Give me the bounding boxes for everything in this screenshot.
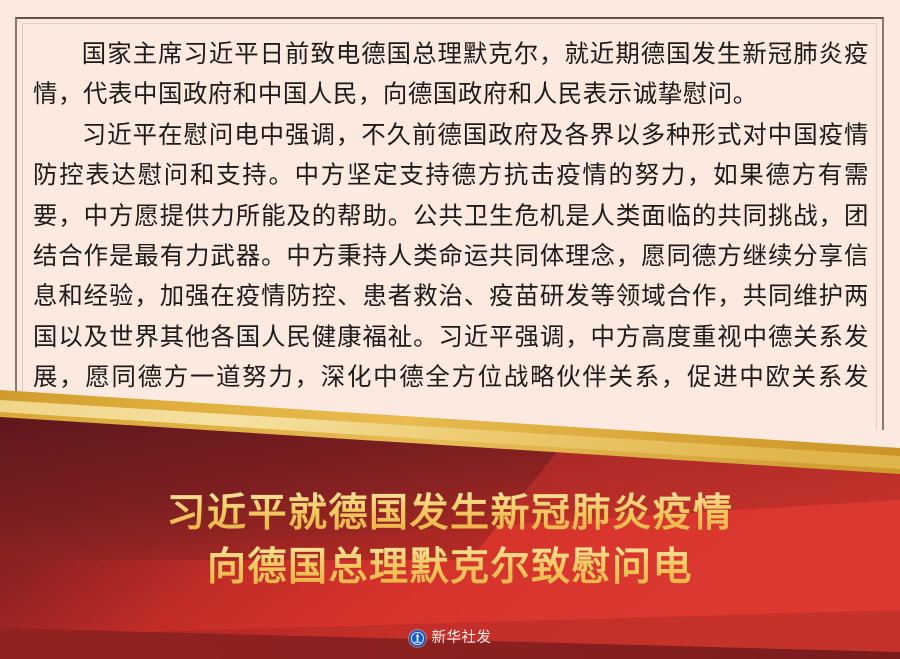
article-paragraph-1: 国家主席习近平日前致电德国总理默克尔，就近期德国发生新冠肺炎疫情，代表中国政府和… (33, 34, 869, 115)
headline-line-1: 习近平就德国发生新冠肺炎疫情 (0, 487, 900, 541)
headline: 习近平就德国发生新冠肺炎疫情 向德国总理默克尔致慰问电 (0, 487, 900, 595)
credit-text: 新华社发 (432, 630, 492, 647)
article-body: 国家主席习近平日前致电德国总理默克尔，就近期德国发生新冠肺炎疫情，代表中国政府和… (33, 34, 869, 430)
article-paragraph-2: 习近平在慰问电中强调，不久前德国政府及各界以多种形式对中国疫情防控表达慰问和支持… (33, 115, 869, 430)
news-graphic: 国家主席习近平日前致电德国总理默克尔，就近期德国发生新冠肺炎疫情，代表中国政府和… (0, 0, 900, 659)
credit-line: 新华社发 (0, 630, 900, 647)
article-panel: 国家主席习近平日前致电德国总理默克尔，就近期德国发生新冠肺炎疫情，代表中国政府和… (0, 0, 900, 430)
headline-line-2: 向德国总理默克尔致慰问电 (0, 541, 900, 595)
xinhua-emblem-icon (409, 630, 426, 647)
